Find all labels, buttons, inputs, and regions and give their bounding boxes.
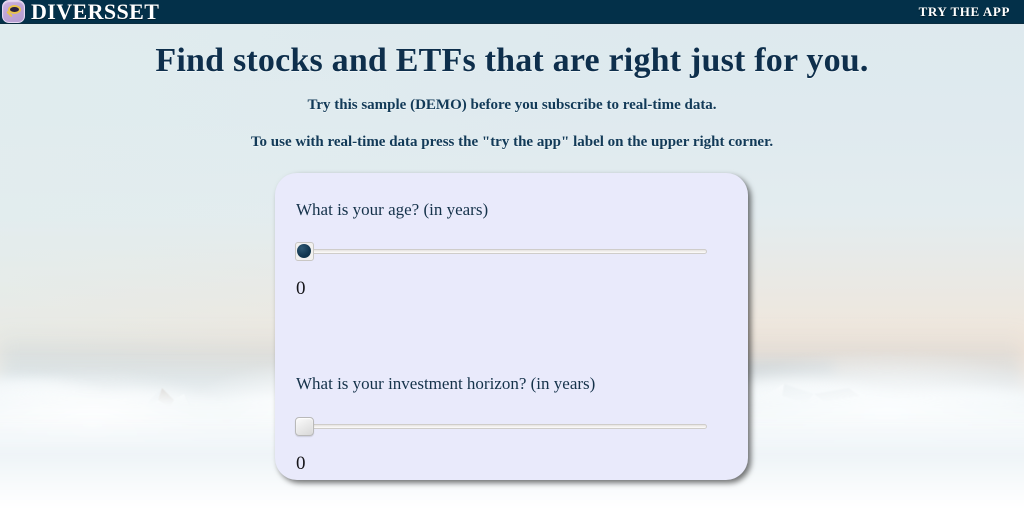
horizon-slider-value: 0 — [295, 453, 728, 475]
magnifier-logo-icon — [2, 0, 25, 23]
horizon-slider-track[interactable] — [306, 424, 707, 429]
horizon-slider[interactable] — [295, 417, 728, 435]
brand-logo[interactable]: DIVERSSET — [0, 0, 159, 23]
age-slider-track[interactable] — [306, 249, 707, 254]
age-slider-thumb[interactable] — [295, 242, 314, 261]
hero-subtitle-1: Try this sample (DEMO) before you subscr… — [0, 97, 1024, 114]
field-age: What is your age? (in years) 0 — [295, 200, 728, 300]
age-slider-value: 0 — [295, 278, 728, 300]
horizon-slider-thumb[interactable] — [295, 417, 314, 436]
field-horizon: What is your investment horizon? (in yea… — [295, 374, 728, 474]
questionnaire-card: What is your age? (in years) 0 What is y… — [275, 173, 748, 480]
try-the-app-button[interactable]: TRY THE APP — [919, 4, 1010, 20]
main-content: Find stocks and ETFs that are right just… — [0, 24, 1024, 512]
brand-name: DIVERSSET — [31, 1, 159, 23]
age-slider[interactable] — [295, 242, 728, 260]
page-headline: Find stocks and ETFs that are right just… — [0, 42, 1024, 80]
hero-subtitle-2: To use with real-time data press the "tr… — [0, 134, 1024, 151]
horizon-question-label: What is your investment horizon? (in yea… — [295, 374, 728, 394]
age-question-label: What is your age? (in years) — [295, 200, 728, 220]
site-header: DIVERSSET TRY THE APP — [0, 0, 1024, 24]
